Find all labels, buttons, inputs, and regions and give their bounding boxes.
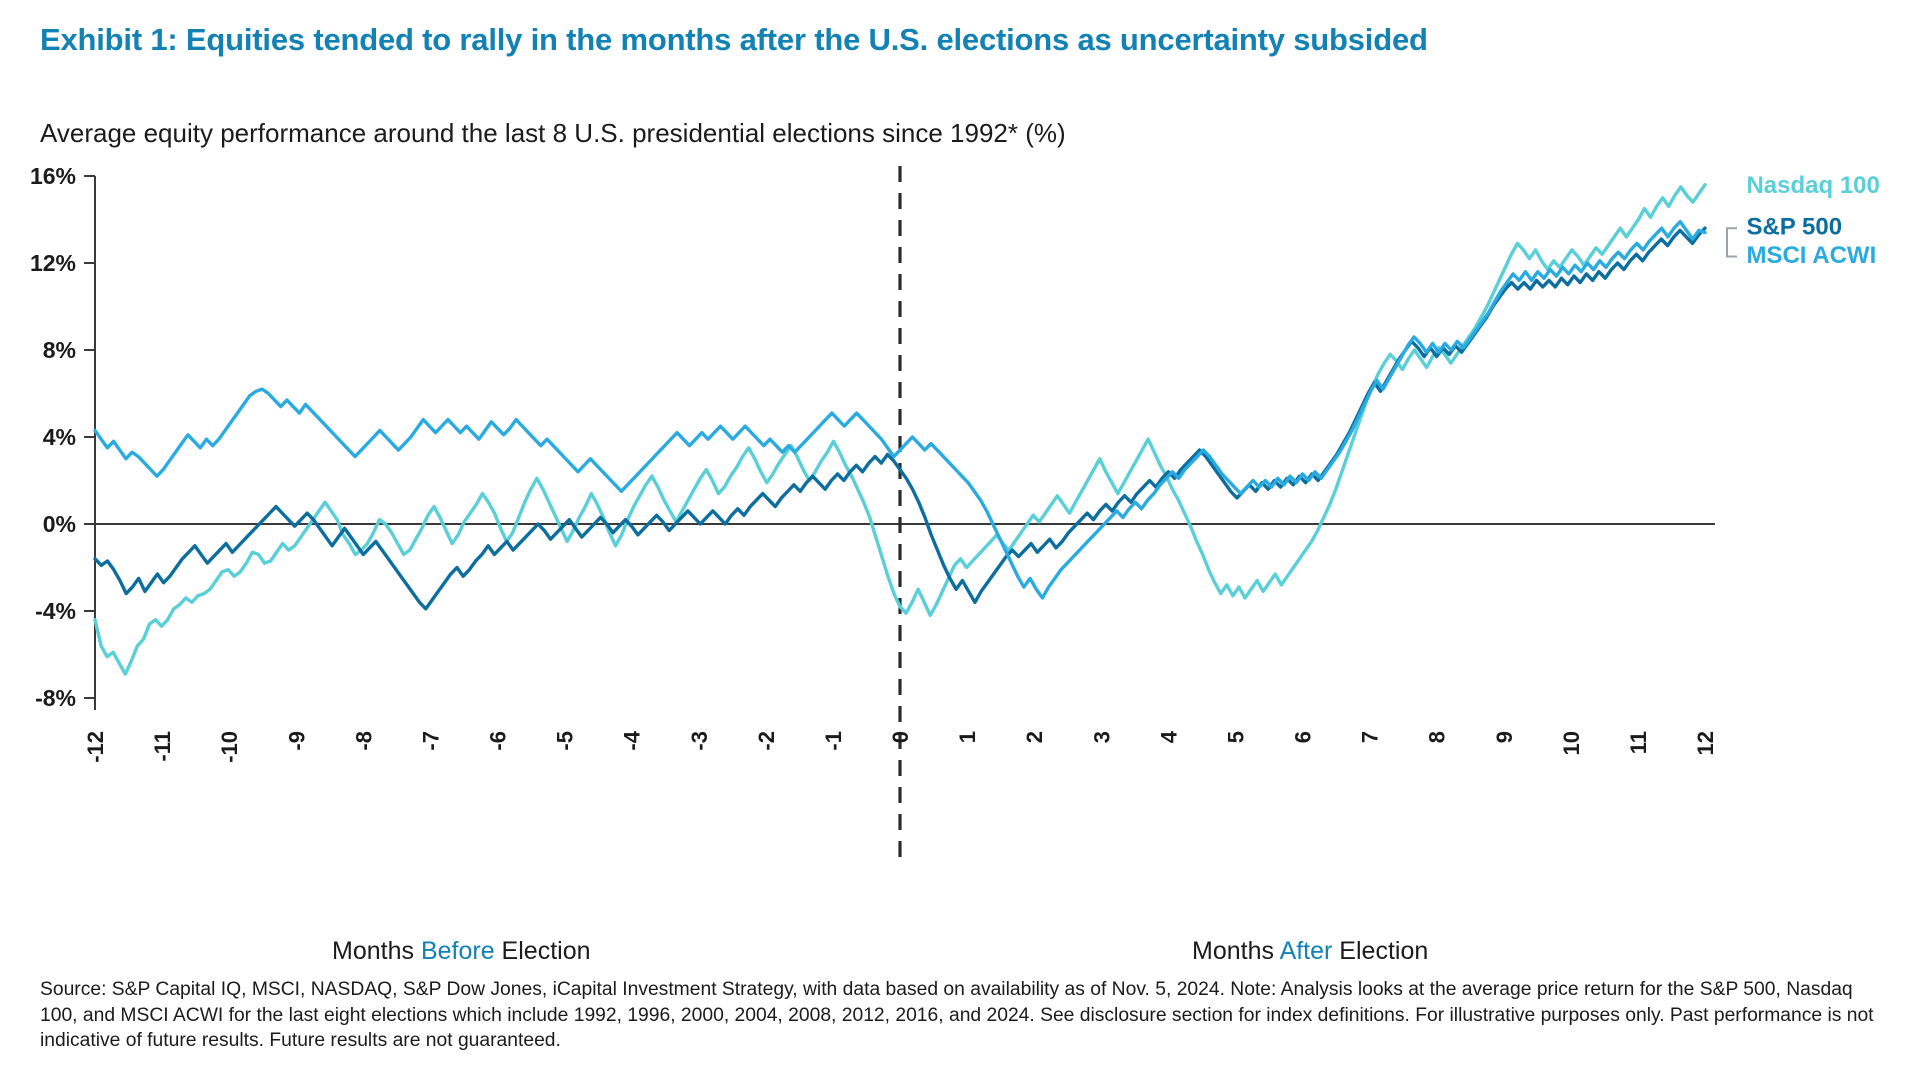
x-axis-tick-label: 4 [1156,730,1181,743]
exhibit-chart-page: Exhibit 1: Equities tended to rally in t… [0,0,1920,1080]
x-axis-tick-label: -6 [486,731,511,751]
x-axis-tick-label: -12 [83,731,108,763]
y-axis-tick-label: 12% [30,250,76,276]
chart-plot-area: -8%-4%0%4%8%12%16%-12-11-10-9-8-7-6-5-4-… [0,150,1920,930]
x-axis-tick-label: -9 [284,731,309,751]
x-axis-tick-label: 7 [1358,731,1383,743]
axis-caption-after: Months After Election [1192,937,1428,966]
x-axis-tick-label: 2 [1022,731,1047,743]
y-axis-tick-label: -4% [35,598,76,624]
x-axis-tick-label: -1 [821,731,846,751]
x-axis-tick-label: 10 [1559,731,1584,755]
series-label-msci-acwi: MSCI ACWI [1746,242,1876,269]
x-axis-tick-label: 8 [1425,731,1450,743]
caption-before-highlight: Before [421,937,495,965]
series-label-s-p-500: S&P 500 [1746,214,1842,241]
chart-subtitle: Average equity performance around the la… [40,118,1900,149]
caption-before-pre: Months [332,937,421,965]
x-axis-tick-label: 3 [1089,731,1114,743]
x-axis-tick-label: -2 [754,731,779,751]
x-axis-tick-label: -4 [620,730,645,750]
axis-caption-before: Months Before Election [332,937,591,966]
x-axis-tick-label: -3 [687,731,712,751]
page-title: Exhibit 1: Equities tended to rally in t… [40,22,1900,58]
x-axis-tick-label: -7 [418,731,443,751]
x-axis-tick-label: -8 [351,731,376,751]
label-leader-bracket [1727,228,1737,256]
x-axis-tick-label: 6 [1291,731,1316,743]
y-axis-tick-label: 16% [30,163,76,189]
x-axis-tick-label: 5 [1223,731,1248,743]
line-chart-svg: -8%-4%0%4%8%12%16%-12-11-10-9-8-7-6-5-4-… [0,150,1920,930]
x-axis-tick-label: -5 [553,731,578,751]
series-label-nasdaq-100: Nasdaq 100 [1746,172,1879,199]
x-axis-tick-label: -10 [217,731,242,763]
caption-after-pre: Months [1192,937,1280,965]
y-axis-tick-label: 4% [43,424,76,450]
caption-before-post: Election [495,937,591,965]
y-axis-tick-label: -8% [35,685,76,711]
x-axis-tick-label: 0 [888,731,913,743]
y-axis-tick-label: 8% [43,337,76,363]
x-axis-tick-label: -11 [150,731,175,762]
caption-after-post: Election [1332,937,1428,965]
x-axis-tick-label: 1 [955,731,980,743]
y-axis-tick-label: 0% [43,511,76,537]
x-axis-tick-label: 9 [1492,731,1517,743]
x-axis-tick-label: 12 [1693,731,1718,755]
x-axis-tick-label: 11 [1626,731,1651,754]
caption-after-highlight: After [1280,937,1333,965]
source-footnote: Source: S&P Capital IQ, MSCI, NASDAQ, S&… [40,977,1892,1054]
